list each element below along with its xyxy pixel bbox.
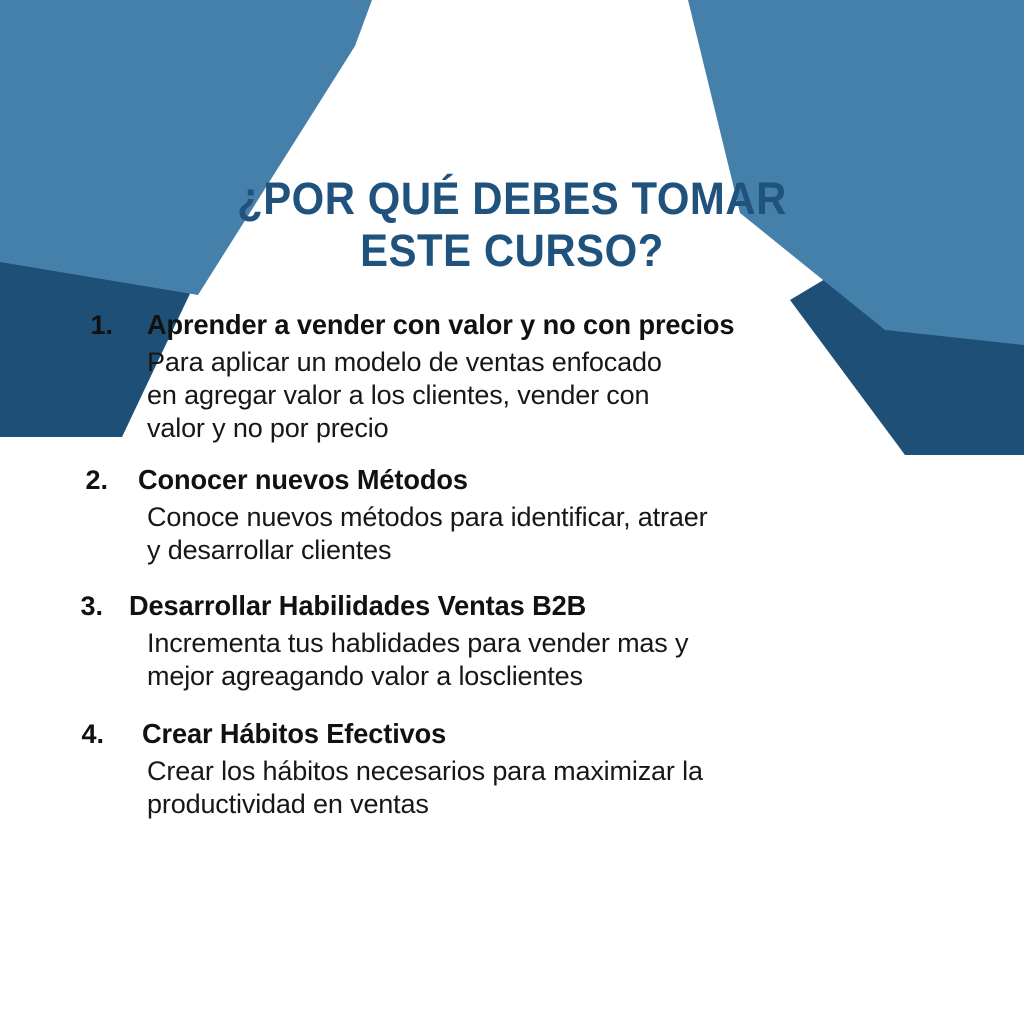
list-item-number: 2. xyxy=(0,463,108,497)
poster-canvas: ¿POR QUÉ DEBES TOMAR ESTE CURSO? 1. Apre… xyxy=(0,0,1024,1024)
list-item-number: 3. xyxy=(0,589,103,623)
list-item-heading: 1. Aprender a vender con valor y no con … xyxy=(0,308,1024,342)
title-line-2: ESTE CURSO? xyxy=(36,225,988,277)
list-item-description: Incrementa tus hablidades para vender ma… xyxy=(147,627,937,693)
list-item: 2. Conocer nuevos Métodos Conoce nuevos … xyxy=(0,463,1024,567)
page-title: ¿POR QUÉ DEBES TOMAR ESTE CURSO? xyxy=(0,173,1024,277)
list-item-heading: 3. Desarrollar Habilidades Ventas B2B xyxy=(0,589,1024,623)
list-item: 1. Aprender a vender con valor y no con … xyxy=(0,308,1024,445)
list-item-title: Conocer nuevos Métodos xyxy=(138,463,468,497)
list-item-heading: 2. Conocer nuevos Métodos xyxy=(0,463,1024,497)
list-item-description: Para aplicar un modelo de ventas enfocad… xyxy=(147,346,937,445)
list-item-description: Conoce nuevos métodos para identificar, … xyxy=(147,501,937,567)
list-item-title: Desarrollar Habilidades Ventas B2B xyxy=(129,589,586,623)
list-item-number: 4. xyxy=(0,717,104,751)
list-item-title: Crear Hábitos Efectivos xyxy=(142,717,446,751)
benefits-list: 1. Aprender a vender con valor y no con … xyxy=(0,308,1024,835)
title-line-1: ¿POR QUÉ DEBES TOMAR xyxy=(36,173,988,225)
list-item-title: Aprender a vender con valor y no con pre… xyxy=(147,308,734,342)
list-item-number: 1. xyxy=(0,308,113,342)
list-item: 4. Crear Hábitos Efectivos Crear los háb… xyxy=(0,717,1024,821)
list-item-heading: 4. Crear Hábitos Efectivos xyxy=(0,717,1024,751)
list-item-description: Crear los hábitos necesarios para maximi… xyxy=(147,755,937,821)
list-item: 3. Desarrollar Habilidades Ventas B2B In… xyxy=(0,589,1024,693)
